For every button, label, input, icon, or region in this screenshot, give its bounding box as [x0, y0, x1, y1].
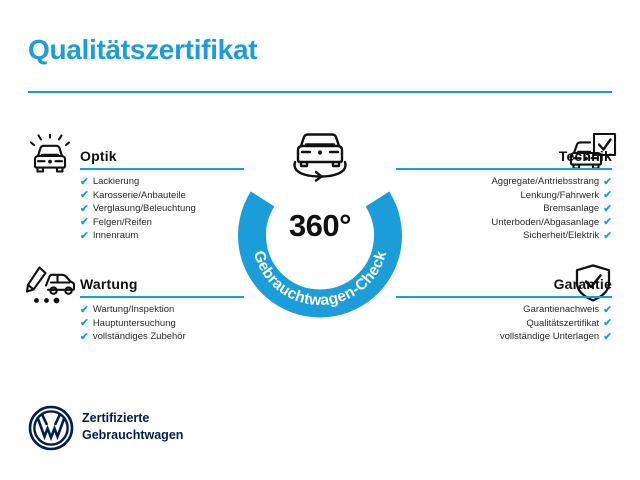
vw-wordmark-line1: Zertifizierte	[82, 410, 183, 427]
vw-wordmark-line2: Gebrauchtwagen	[82, 427, 183, 444]
list-item-label: Aggregate/Antriebsstrang	[491, 175, 599, 189]
list-item-label: Lenkung/Fahrwerk	[521, 189, 600, 203]
page-title: Qualitätszertifikat	[28, 34, 257, 66]
check-icon: ✔	[80, 318, 89, 329]
checklist-wartung: ✔ Wartung/Inspektion ✔ Hauptuntersuchung…	[80, 303, 186, 344]
section-divider-garantie	[396, 296, 612, 298]
list-item-label: vollständige Unterlagen	[500, 330, 599, 344]
check-icon: ✔	[80, 231, 89, 242]
list-item: Aggregate/Antriebsstrang ✔	[491, 175, 612, 189]
vw-wordmark: Zertifizierte Gebrauchtwagen	[82, 410, 183, 444]
list-item: Bremsanlage ✔	[491, 202, 612, 216]
list-item-label: Qualitätszertifikat	[526, 317, 599, 331]
check-icon: ✔	[80, 190, 89, 201]
section-heading-wartung: Wartung	[80, 276, 138, 292]
list-item: vollständige Unterlagen ✔	[500, 330, 612, 344]
check-icon: ✔	[603, 231, 612, 242]
list-item-label: Hauptuntersuchung	[93, 317, 176, 331]
check-icon: ✔	[603, 318, 612, 329]
list-item: Sicherheit/Elektrik ✔	[491, 229, 612, 243]
list-item-label: Innenraum	[93, 229, 138, 243]
list-item: ✔ Wartung/Inspektion	[80, 303, 186, 317]
list-item-label: Karosserie/Anbauteile	[93, 189, 186, 203]
car-shine-icon	[24, 134, 76, 178]
list-item: ✔ Lackierung	[80, 175, 196, 189]
check-icon: ✔	[80, 332, 89, 343]
list-item-label: vollständiges Zubehör	[93, 330, 186, 344]
list-item-label: Garantienachweis	[523, 303, 599, 317]
check-icon: ✔	[603, 177, 612, 188]
list-item: Lenkung/Fahrwerk ✔	[491, 189, 612, 203]
check-icon: ✔	[603, 217, 612, 228]
section-heading-optik: Optik	[80, 148, 117, 164]
section-divider-wartung	[80, 296, 244, 298]
check-icon: ✔	[603, 305, 612, 316]
vw-logo	[28, 405, 74, 451]
list-item: ✔ Innenraum	[80, 229, 196, 243]
check-icon: ✔	[80, 204, 89, 215]
list-item-label: Lackierung	[93, 175, 139, 189]
checklist-technik: Aggregate/Antriebsstrang ✔ Lenkung/Fahrw…	[491, 175, 612, 243]
check-icon: ✔	[603, 332, 612, 343]
list-item: ✔ Verglasung/Beleuchtung	[80, 202, 196, 216]
check-icon: ✔	[80, 305, 89, 316]
list-item-label: Felgen/Reifen	[93, 216, 152, 230]
checklist-optik: ✔ Lackierung ✔ Karosserie/Anbauteile ✔ V…	[80, 175, 196, 243]
list-item-label: Wartung/Inspektion	[93, 303, 175, 317]
list-item-label: Sicherheit/Elektrik	[523, 229, 599, 243]
list-item: ✔ vollständiges Zubehör	[80, 330, 186, 344]
section-divider-optik	[80, 168, 244, 170]
list-item: ✔ Hauptuntersuchung	[80, 317, 186, 331]
check-icon: ✔	[80, 177, 89, 188]
check-icon: ✔	[80, 217, 89, 228]
car-service-pen-icon	[24, 264, 76, 308]
list-item: ✔ Felgen/Reifen	[80, 216, 196, 230]
list-item-label: Unterboden/Abgasanlage	[491, 216, 599, 230]
list-item-label: Bremsanlage	[543, 202, 599, 216]
list-item: Qualitätszertifikat ✔	[500, 317, 612, 331]
checklist-garantie: Garantienachweis ✔ Qualitätszertifikat ✔…	[500, 303, 612, 344]
list-item: Unterboden/Abgasanlage ✔	[491, 216, 612, 230]
section-heading-garantie: Garantie	[554, 276, 612, 292]
section-divider-technik	[396, 168, 612, 170]
section-heading-technik: Technik	[559, 148, 612, 164]
check-icon: ✔	[603, 190, 612, 201]
list-item: ✔ Karosserie/Anbauteile	[80, 189, 196, 203]
badge-center-label: 360°	[238, 208, 402, 244]
car-rotate-360-icon	[282, 126, 358, 182]
title-divider	[28, 91, 612, 93]
check-icon: ✔	[603, 204, 612, 215]
list-item-label: Verglasung/Beleuchtung	[93, 202, 196, 216]
list-item: Garantienachweis ✔	[500, 303, 612, 317]
certificate-page: Qualitätszertifikat Gebrauchtwagen-Check…	[0, 0, 640, 480]
